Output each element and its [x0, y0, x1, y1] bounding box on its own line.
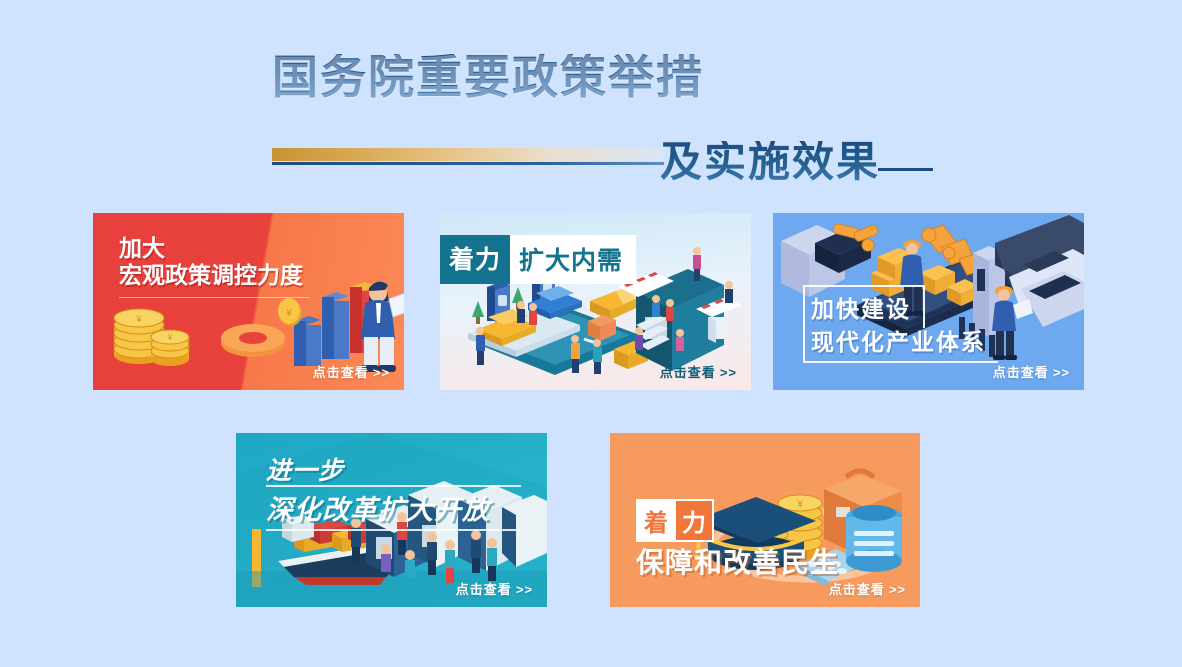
- card-macro-policy[interactable]: ¥ ¥: [93, 213, 404, 390]
- card5-cta-link[interactable]: 点击查看>>: [829, 579, 906, 598]
- card4-cta-link[interactable]: 点击查看>>: [456, 579, 533, 598]
- card1-heading: 加大 宏观政策调控力度: [119, 235, 303, 289]
- card5-chevron-icon: >>: [889, 582, 906, 597]
- page-title-line2: 及实施效果: [660, 141, 880, 185]
- card-peoples-livelihood[interactable]: ¥ ¥: [610, 433, 920, 607]
- card5-heading-tags: 着 力: [636, 499, 714, 542]
- svg-text:¥: ¥: [285, 308, 292, 319]
- card1-chevron-icon: >>: [373, 365, 390, 380]
- card1-cta-label: 点击查看: [313, 365, 369, 380]
- card2-heading-tag-b: 扩大内需: [510, 235, 636, 284]
- card5-heading-tag-a: 着: [636, 499, 676, 542]
- card1-heading-line1: 加大: [119, 235, 165, 261]
- svg-text:¥: ¥: [135, 314, 142, 324]
- svg-text:¥: ¥: [167, 333, 173, 342]
- card1-cta-link[interactable]: 点击查看>>: [313, 362, 390, 381]
- card2-cta-label: 点击查看: [660, 365, 716, 380]
- card4-rule-bottom: [266, 529, 521, 531]
- card4-heading-line1: 进一步: [266, 451, 344, 487]
- card2-cta-link[interactable]: 点击查看>>: [660, 362, 737, 381]
- card5-cta-label: 点击查看: [829, 582, 885, 597]
- policy-landing-page: 国务院重要政策举措 及实施效果 ¥: [0, 0, 1182, 667]
- card5-heading-line2: 保障和改善民生: [636, 541, 839, 581]
- svg-text:¥: ¥: [796, 499, 803, 510]
- card-deepen-reform-opening-up[interactable]: 进一步 深化改革扩大开放 点击查看>>: [236, 433, 547, 607]
- card-expand-domestic-demand[interactable]: 着力 扩大内需 点击查看>>: [440, 213, 751, 390]
- card2-chevron-icon: >>: [720, 365, 737, 380]
- card4-cta-label: 点击查看: [456, 582, 512, 597]
- title-blue-rule: [272, 162, 664, 165]
- card5-heading-tag-b: 力: [676, 499, 714, 542]
- card4-rule-top: [266, 485, 521, 487]
- card4-heading-line2: 深化改革扩大开放: [266, 488, 490, 527]
- card1-heading-underline: [119, 297, 309, 298]
- card3-heading-line2: 现代化产业体系: [803, 320, 998, 363]
- page-title-primary: 国务院重要政策举措: [272, 54, 704, 102]
- page-title-secondary: 及实施效果: [660, 141, 880, 185]
- card2-heading-tag-a: 着力: [440, 235, 510, 284]
- page-title-line1: 国务院重要政策举措: [272, 54, 704, 102]
- card3-cta-link[interactable]: 点击查看>>: [993, 362, 1070, 381]
- title-gold-underline: [272, 148, 664, 161]
- card4-chevron-icon: >>: [516, 582, 533, 597]
- card1-heading-line2: 宏观政策调控力度: [119, 262, 303, 288]
- card3-chevron-icon: >>: [1053, 365, 1070, 380]
- card-modern-industrial-system[interactable]: 加快建设 现代化产业体系 点击查看>>: [773, 213, 1084, 390]
- card3-cta-label: 点击查看: [993, 365, 1049, 380]
- page-header: 国务院重要政策举措 及实施效果: [0, 46, 1182, 156]
- card2-heading: 着力 扩大内需: [440, 235, 636, 284]
- title-dash-rule: [878, 168, 933, 171]
